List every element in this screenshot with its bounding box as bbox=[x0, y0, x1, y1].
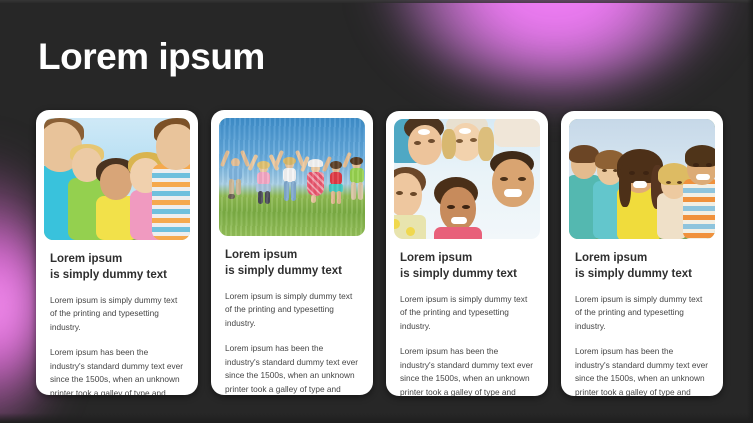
card-4[interactable]: Lorem ipsum is simply dummy text Lorem i… bbox=[561, 111, 723, 396]
card-3-body: Lorem ipsum is simply dummy text Lorem i… bbox=[394, 251, 540, 396]
card-row: Lorem ipsum is simply dummy text Lorem i… bbox=[31, 108, 725, 396]
card-4-photo-children-group-smiling-outdoors bbox=[569, 119, 715, 239]
card-4-heading-line1: Lorem ipsum bbox=[575, 251, 709, 267]
glow-top-magenta bbox=[385, 0, 725, 92]
card-2-paragraph-1: Lorem ipsum is simply dummy text of the … bbox=[225, 290, 359, 330]
card-1-paragraph-1: Lorem ipsum is simply dummy text of the … bbox=[50, 294, 184, 334]
card-2-heading: Lorem ipsum is simply dummy text bbox=[225, 248, 359, 279]
card-3-heading-line2: is simply dummy text bbox=[400, 267, 534, 283]
top-edge-highlight bbox=[0, 0, 753, 3]
page-title: Lorem ipsum bbox=[38, 38, 265, 77]
bottom-edge-shade bbox=[0, 413, 753, 423]
card-2-photo-children-jumping-meadow bbox=[219, 118, 365, 236]
card-3-heading-line1: Lorem ipsum bbox=[400, 251, 534, 267]
card-3-photo-children-circle-looking-down bbox=[394, 119, 540, 239]
right-edge-shade bbox=[747, 0, 753, 423]
card-1-body: Lorem ipsum is simply dummy text Lorem i… bbox=[44, 252, 190, 395]
card-3-paragraph-2: Lorem ipsum has been the industry's stan… bbox=[400, 345, 534, 396]
card-1-heading-line2: is simply dummy text bbox=[50, 268, 184, 284]
card-2-paragraph-2: Lorem ipsum has been the industry's stan… bbox=[225, 342, 359, 395]
card-2-heading-line1: Lorem ipsum bbox=[225, 248, 359, 264]
card-1-heading-line1: Lorem ipsum bbox=[50, 252, 184, 268]
card-3-heading: Lorem ipsum is simply dummy text bbox=[400, 251, 534, 282]
card-4-body: Lorem ipsum is simply dummy text Lorem i… bbox=[569, 251, 715, 396]
card-1[interactable]: Lorem ipsum is simply dummy text Lorem i… bbox=[36, 110, 198, 395]
card-4-heading: Lorem ipsum is simply dummy text bbox=[575, 251, 709, 282]
card-4-paragraph-2: Lorem ipsum has been the industry's stan… bbox=[575, 345, 709, 396]
card-2-heading-line2: is simply dummy text bbox=[225, 264, 359, 280]
card-1-heading: Lorem ipsum is simply dummy text bbox=[50, 252, 184, 283]
card-3-paragraph-1: Lorem ipsum is simply dummy text of the … bbox=[400, 293, 534, 333]
card-3[interactable]: Lorem ipsum is simply dummy text Lorem i… bbox=[386, 111, 548, 396]
card-4-paragraph-1: Lorem ipsum is simply dummy text of the … bbox=[575, 293, 709, 333]
card-1-photo-children-low-angle-blue-sky bbox=[44, 118, 190, 240]
card-1-paragraph-2: Lorem ipsum has been the industry's stan… bbox=[50, 346, 184, 395]
glow-left-highlight bbox=[0, 232, 28, 382]
card-2-body: Lorem ipsum is simply dummy text Lorem i… bbox=[219, 248, 365, 395]
card-2[interactable]: Lorem ipsum is simply dummy text Lorem i… bbox=[211, 110, 373, 395]
card-4-heading-line2: is simply dummy text bbox=[575, 267, 709, 283]
